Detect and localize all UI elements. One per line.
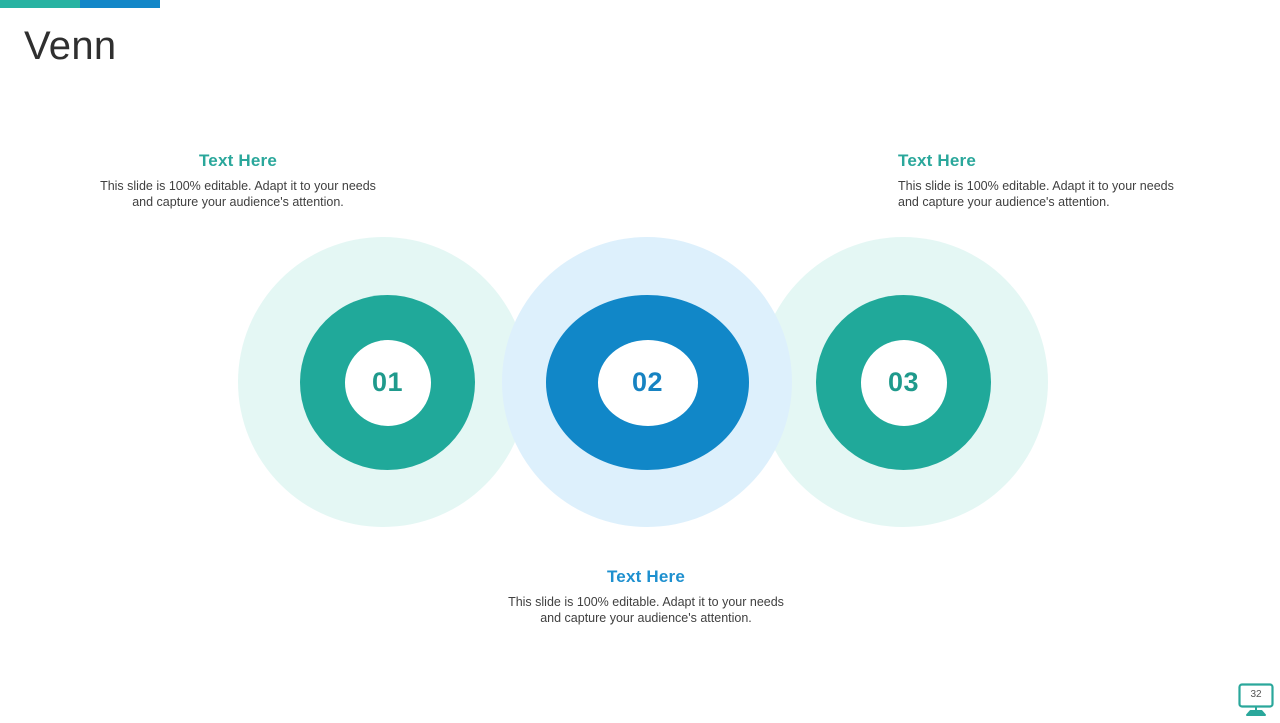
callout-right: Text Here This slide is 100% editable. A…	[898, 150, 1198, 210]
venn-halo-circle-2	[502, 237, 792, 527]
callout-bottom: Text Here This slide is 100% editable. A…	[496, 566, 796, 626]
callout-right-body: This slide is 100% editable. Adapt it to…	[898, 178, 1198, 210]
venn-number-1: 01	[372, 367, 403, 398]
page-title: Venn	[24, 22, 116, 70]
top-accent-blue-segment	[80, 0, 160, 8]
callout-bottom-body: This slide is 100% editable. Adapt it to…	[496, 594, 796, 626]
top-accent-teal-segment	[0, 0, 80, 8]
venn-core-1: 01	[345, 340, 431, 426]
venn-halo-circle-1	[238, 237, 528, 527]
page-number-text: 32	[1236, 689, 1276, 701]
venn-core-2: 02	[598, 340, 698, 426]
callout-left: Text Here This slide is 100% editable. A…	[88, 150, 388, 210]
callout-right-title: Text Here	[898, 150, 1198, 172]
top-accent-bar	[0, 0, 160, 8]
callout-left-title: Text Here	[88, 150, 388, 172]
venn-number-2: 02	[632, 367, 663, 398]
venn-ring-2[interactable]: 02	[546, 295, 749, 470]
venn-core-3: 03	[861, 340, 947, 426]
venn-halo-circle-3	[758, 237, 1048, 527]
callout-left-body: This slide is 100% editable. Adapt it to…	[88, 178, 388, 210]
venn-ring-3[interactable]: 03	[816, 295, 991, 470]
callout-bottom-title: Text Here	[496, 566, 796, 588]
venn-number-3: 03	[888, 367, 919, 398]
page-number-badge[interactable]: 32	[1236, 682, 1276, 718]
venn-ring-1[interactable]: 01	[300, 295, 475, 470]
